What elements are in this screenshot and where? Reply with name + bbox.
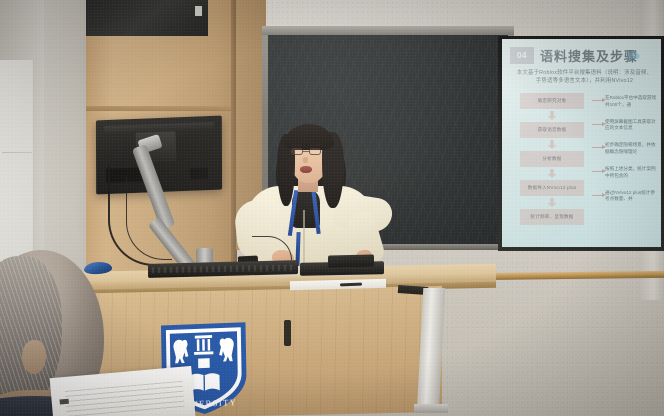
desk-leg-foot (414, 404, 448, 413)
slide-section-badge: 04 (510, 47, 534, 64)
handout-mark (60, 399, 69, 405)
presenter-nose (303, 157, 308, 163)
flow-note: 在Roblox平台中选取游戏共100个，通 (594, 95, 657, 108)
flow-note-text: 按照上述分类，统计案例中所包含的 (605, 166, 657, 179)
door-rail (86, 106, 236, 111)
flow-note-text: 在Roblox平台中选取游戏共100个，通 (605, 95, 657, 108)
control-console[interactable] (328, 254, 374, 267)
flow-arrow-icon (548, 111, 557, 120)
eyeglasses-bridge (303, 151, 309, 152)
projection-screen: 04 语料搜集及步骤 本文基于Roblox软件平台搜集语料（说明：涉及音频、手势… (498, 36, 664, 251)
flow-step: 数据导入NVivo12 plus (520, 180, 584, 196)
lecture-hall-photo: 04 语料搜集及步骤 本文基于Roblox软件平台搜集语料（说明：涉及音频、手势… (0, 0, 664, 416)
presentation-slide: 04 语料搜集及步骤 本文基于Roblox软件平台搜集语料（说明：涉及音频、手势… (502, 39, 661, 247)
flow-note-text: 通过NVivo12 plus统计参考点数量、并 (605, 190, 657, 203)
monitor-port-secondary (190, 168, 208, 180)
flow-note-text: 使用屏幕截图工具获取对应的文本信息 (605, 119, 657, 132)
blackboard-frame-top (262, 26, 514, 35)
slide-header: 04 语料搜集及步骤 (508, 46, 655, 66)
flow-arrow-icon (548, 140, 557, 149)
panel-seam (2, 152, 32, 153)
flow-step: 分析数据 (520, 151, 584, 167)
eyeglasses-lens-left (291, 148, 303, 155)
flow-arrow-icon (548, 198, 557, 207)
flow-arrow-icon (548, 169, 557, 178)
presenter-eyebrow-left (291, 144, 302, 146)
presenter-eyebrow-right (310, 144, 321, 146)
ceiling-vent-panel (86, 0, 208, 36)
flow-note-text: 初步确定隐喻场景，并依据概念隐喻理论 (605, 142, 657, 155)
slide-title: 语料搜集及步骤 (540, 46, 638, 65)
cloud-upload-icon (626, 49, 641, 60)
flow-note: 初步确定隐喻场景，并依据概念隐喻理论 (594, 142, 657, 155)
flow-note: 通过NVivo12 plus统计参考点数量、并 (594, 190, 657, 203)
flow-step: 获取语音数据 (520, 122, 584, 138)
podium-cable-slot (284, 320, 291, 346)
presenter-mouth (300, 166, 312, 173)
slide-subtitle: 本文基于Roblox软件平台搜集语料（说明：涉及音频、手势适等多语言文本），并利… (516, 69, 653, 85)
audience-member-ear (22, 340, 46, 374)
flow-step: 确定研究对象 (520, 93, 584, 109)
handout-text-lines (65, 381, 185, 416)
eyeglasses-lens-right (309, 148, 321, 155)
slide-flowchart: 确定研究对象 获取语音数据 分析数据 数据导入NVivo12 plus 统计频率… (520, 93, 584, 225)
slide-annotations: 在Roblox平台中选取游戏共100个，通 使用屏幕截图工具获取对应的文本信息 … (594, 95, 657, 213)
flow-step: 统计频率、呈现数据 (520, 209, 584, 225)
flow-note: 使用屏幕截图工具获取对应的文本信息 (594, 119, 657, 132)
flow-note: 按照上述分类，统计案例中所包含的 (594, 166, 657, 179)
